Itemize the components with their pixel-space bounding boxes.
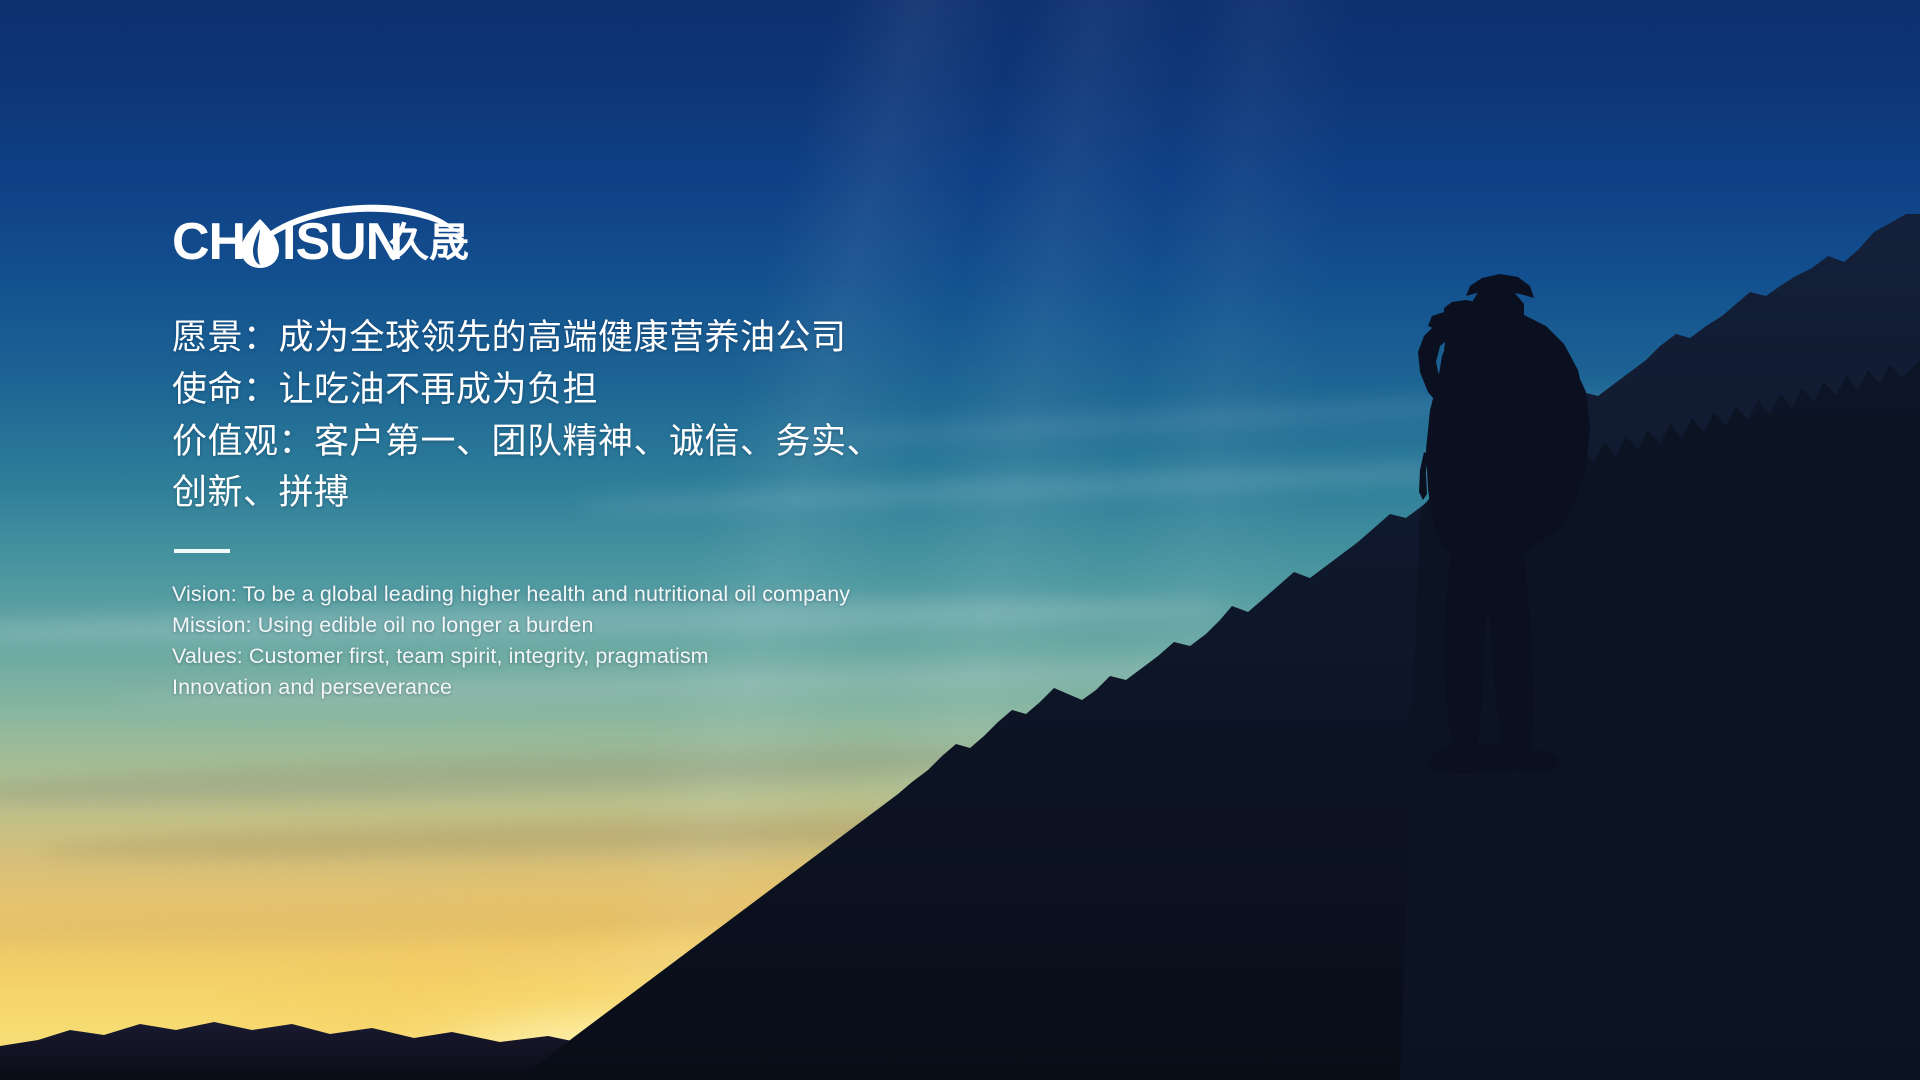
water-droplet-icon bbox=[241, 219, 279, 268]
content-block: CH ISUN 久晟 愿景：成为全球领先的高端健康营养油公司 使命：让吃油不再成… bbox=[172, 196, 1072, 703]
divider-rule bbox=[174, 549, 230, 553]
svg-text:ISUN: ISUN bbox=[282, 213, 402, 271]
statement-chinese: 愿景：成为全球领先的高端健康营养油公司 使命：让吃油不再成为负担 价值观：客户第… bbox=[172, 312, 1072, 519]
svg-text:CH: CH bbox=[172, 213, 245, 271]
vision-line-cn: 愿景：成为全球领先的高端健康营养油公司 bbox=[172, 312, 1072, 364]
values-line-en-cont: Innovation and perseverance bbox=[172, 672, 1072, 703]
values-line-en: Values: Customer first, team spirit, int… bbox=[172, 641, 1072, 672]
vision-line-en: Vision: To be a global leading higher he… bbox=[172, 579, 1072, 610]
mission-line-en: Mission: Using edible oil no longer a bu… bbox=[172, 610, 1072, 641]
brand-logo[interactable]: CH ISUN 久晟 bbox=[172, 196, 472, 282]
svg-text:久晟: 久晟 bbox=[389, 220, 469, 266]
statement-english: Vision: To be a global leading higher he… bbox=[172, 579, 1072, 703]
values-line-cn-cont: 创新、拼搏 bbox=[172, 467, 1072, 519]
values-line-cn: 价值观：客户第一、团队精神、诚信、务实、 bbox=[172, 416, 1072, 468]
mission-line-cn: 使命：让吃油不再成为负担 bbox=[172, 364, 1072, 416]
slide-canvas: CH ISUN 久晟 愿景：成为全球领先的高端健康营养油公司 使命：让吃油不再成… bbox=[0, 0, 1920, 1080]
